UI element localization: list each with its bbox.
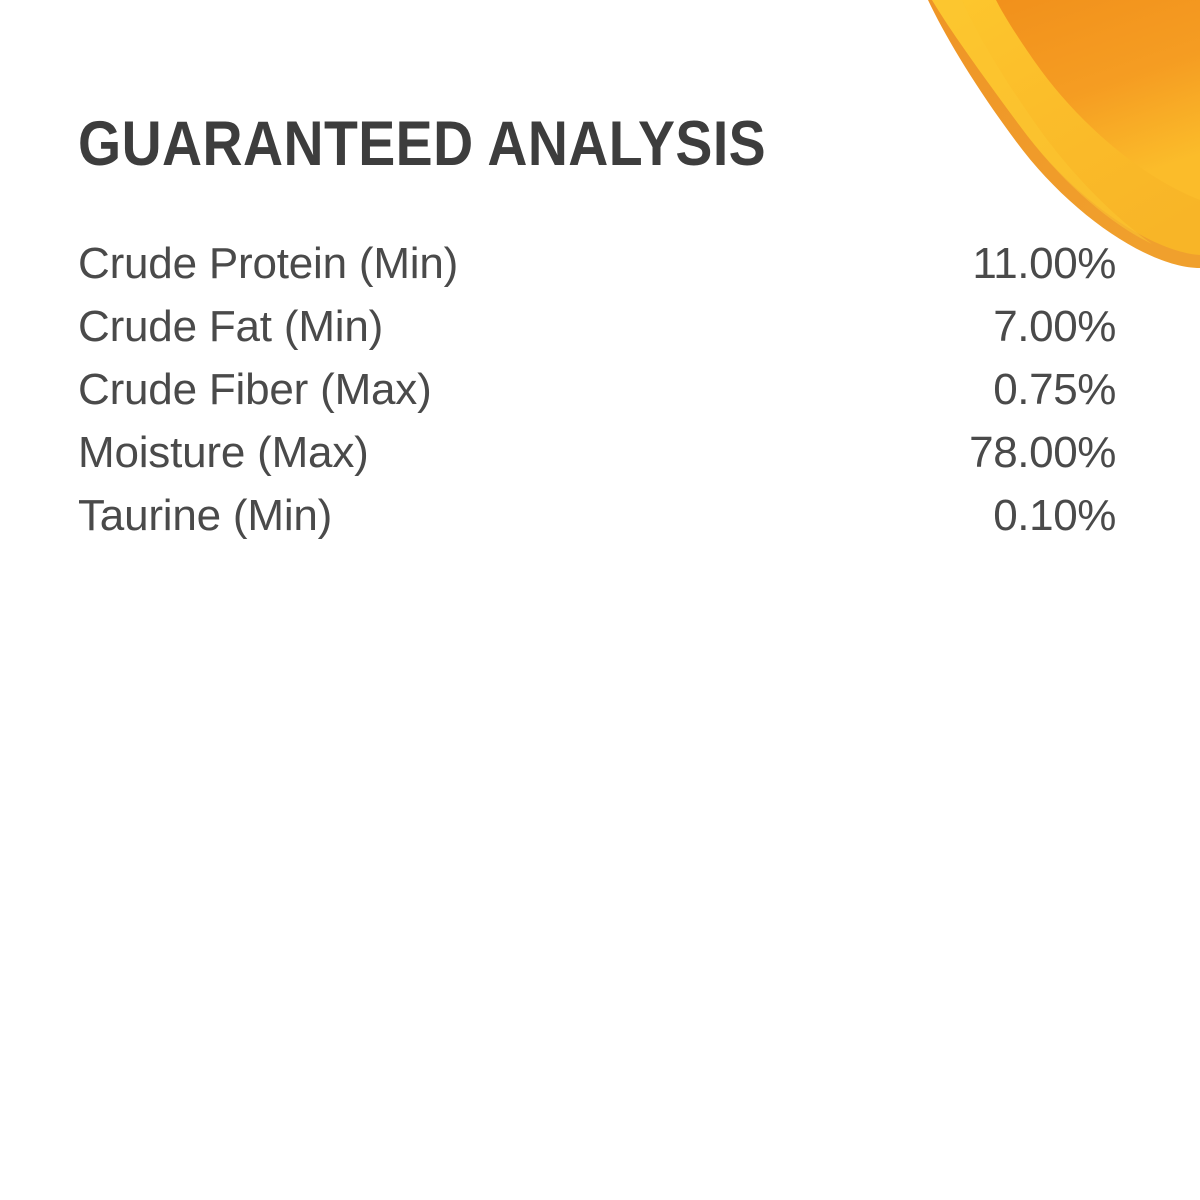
nutrient-label: Crude Fat (Min)	[78, 295, 827, 358]
nutrient-value: 78.00%	[827, 421, 1116, 484]
nutrient-label: Moisture (Max)	[78, 421, 827, 484]
table-row: Crude Fat (Min) 7.00%	[78, 295, 1116, 358]
nutrient-value: 0.10%	[827, 484, 1116, 547]
guaranteed-analysis-table: Crude Protein (Min) 11.00% Crude Fat (Mi…	[78, 232, 1116, 547]
nutrient-value: 0.75%	[827, 358, 1116, 421]
nutrient-value: 11.00%	[827, 232, 1116, 295]
page-title: GUARANTEED ANALYSIS	[78, 112, 766, 176]
nutrient-value: 7.00%	[827, 295, 1116, 358]
table-row: Crude Protein (Min) 11.00%	[78, 232, 1116, 295]
guaranteed-analysis-panel: GUARANTEED ANALYSIS Crude Protein (Min) …	[0, 0, 1200, 1200]
table-row: Crude Fiber (Max) 0.75%	[78, 358, 1116, 421]
nutrient-label: Crude Protein (Min)	[78, 232, 827, 295]
table-row: Taurine (Min) 0.10%	[78, 484, 1116, 547]
nutrient-label: Taurine (Min)	[78, 484, 827, 547]
nutrient-label: Crude Fiber (Max)	[78, 358, 827, 421]
table-row: Moisture (Max) 78.00%	[78, 421, 1116, 484]
